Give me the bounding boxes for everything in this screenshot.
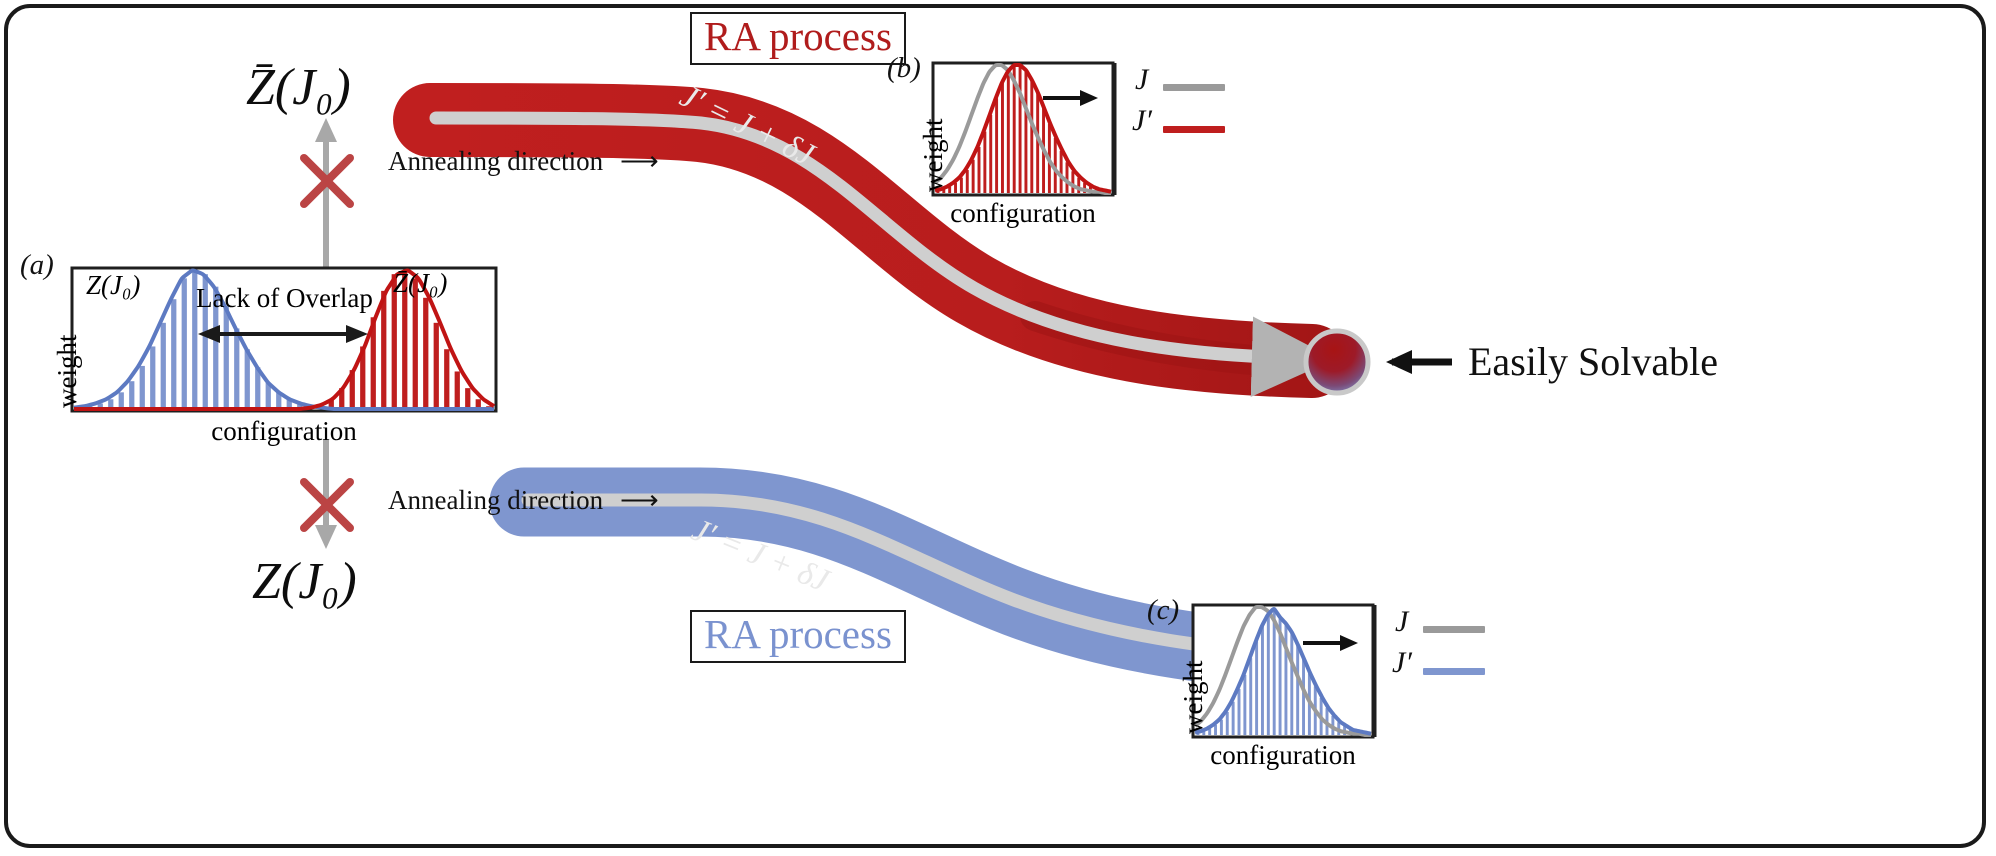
- histogram-bar: [1296, 645, 1299, 735]
- inset-c-xlabel: configuration: [1193, 740, 1373, 771]
- histogram-bar: [234, 328, 239, 409]
- inset-b-legend-swatch-j: [1163, 84, 1225, 91]
- inset-b-tag: (b): [887, 52, 921, 85]
- histogram-bar: [224, 306, 229, 409]
- inset-a-tag: (a): [20, 249, 54, 282]
- zbar-j0-label: Z̄(J₀): [246, 58, 351, 117]
- top-ra-process-box: RA process: [690, 12, 906, 65]
- histogram-bar: [1220, 720, 1223, 735]
- histogram-bar: [129, 381, 134, 409]
- histogram-bar: [245, 349, 250, 409]
- histogram-bar: [465, 388, 470, 409]
- histogram-bar: [960, 178, 963, 193]
- histogram-bar: [423, 298, 428, 409]
- histogram-bar: [1214, 725, 1217, 735]
- histogram-bar: [995, 98, 998, 193]
- histogram-bar: [140, 366, 145, 409]
- inset-a-xlabel: configuration: [72, 416, 496, 447]
- histogram-bar: [455, 371, 460, 409]
- inset-c-legend-label-jprime: J′: [1392, 646, 1412, 680]
- histogram-bar: [434, 323, 439, 409]
- histogram-bar: [161, 323, 166, 409]
- inset-c-ylabel: weight: [1178, 661, 1209, 735]
- histogram-bar: [1066, 162, 1069, 193]
- histogram-bar: [1060, 151, 1063, 193]
- histogram-bar: [182, 278, 187, 409]
- histogram-bar: [1226, 712, 1229, 735]
- histogram-bar: [171, 299, 176, 409]
- bottom-ra-process-box: RA process: [690, 610, 906, 663]
- figure-canvas: RA process Z̄(J₀) Annealing direction ⟶ …: [0, 0, 1996, 856]
- histogram-bar: [1001, 83, 1004, 193]
- histogram-bar: [1302, 659, 1305, 735]
- histogram-bar: [978, 147, 981, 193]
- inset-c-legend-swatch-j: [1423, 626, 1485, 633]
- inset-c-legend-label-j: J: [1395, 605, 1408, 639]
- histogram-bar: [966, 170, 969, 193]
- top-ra-process-label: RA process: [704, 13, 892, 59]
- histogram-bar: [1238, 689, 1241, 735]
- histogram-bar: [1030, 80, 1033, 193]
- inset-b-ylabel: weight: [918, 119, 949, 193]
- easily-solvable-label: Easily Solvable: [1468, 338, 1718, 385]
- inset-b-plot: [933, 63, 1115, 195]
- histogram-bar: [444, 349, 449, 409]
- histogram-bar: [1232, 702, 1235, 735]
- inset-b-legend-label-j: J: [1135, 63, 1148, 97]
- histogram-bar: [1243, 675, 1246, 735]
- histogram-bar: [119, 392, 124, 409]
- histogram-bar: [954, 183, 957, 193]
- histogram-bar: [972, 160, 975, 193]
- inset-b-legend-swatch-jprime: [1163, 126, 1225, 133]
- histogram-bar: [1024, 70, 1027, 193]
- histogram-bar: [1071, 171, 1074, 193]
- inset-b-legend-label-jprime: J′: [1132, 104, 1152, 138]
- histogram-bar: [1261, 626, 1264, 735]
- z-j0-label: Z(J₀): [252, 552, 357, 611]
- histogram-bar: [1290, 633, 1293, 735]
- inset-c-plot: [1193, 605, 1375, 737]
- inset-b-xlabel: configuration: [933, 198, 1113, 229]
- bottom-ra-process-label: RA process: [704, 611, 892, 657]
- inset-c-legend-swatch-jprime: [1423, 668, 1485, 675]
- inset-a-left-curve-label: Z(J₀): [86, 270, 140, 301]
- histogram-bar: [150, 346, 155, 409]
- top-annealing-direction-label: Annealing direction ⟶: [388, 146, 657, 177]
- inset-a-annotation: Lack of Overlap: [196, 283, 373, 314]
- histogram-bar: [1273, 608, 1276, 735]
- histogram-bar: [1019, 65, 1022, 193]
- convergence-node: [1306, 331, 1368, 393]
- top-annealing-arrow-icon: ⟶: [610, 146, 657, 176]
- bottom-annealing-direction-label: Annealing direction ⟶: [388, 485, 657, 516]
- histogram-bar: [1255, 642, 1258, 735]
- histogram-bar: [1267, 615, 1270, 735]
- bottom-annealing-arrow-icon: ⟶: [610, 485, 657, 515]
- histogram-bar: [381, 291, 386, 409]
- histogram-bar: [983, 132, 986, 193]
- inset-a-ylabel: weight: [52, 335, 83, 409]
- histogram-bar: [989, 115, 992, 193]
- inset-c-tag: (c): [1147, 594, 1179, 627]
- histogram-bar: [1249, 658, 1252, 735]
- inset-a-right-curve-label: Z̄(J₀): [393, 268, 447, 299]
- histogram-bar: [1007, 71, 1010, 193]
- easily-solvable-arrow-icon: [1386, 350, 1452, 374]
